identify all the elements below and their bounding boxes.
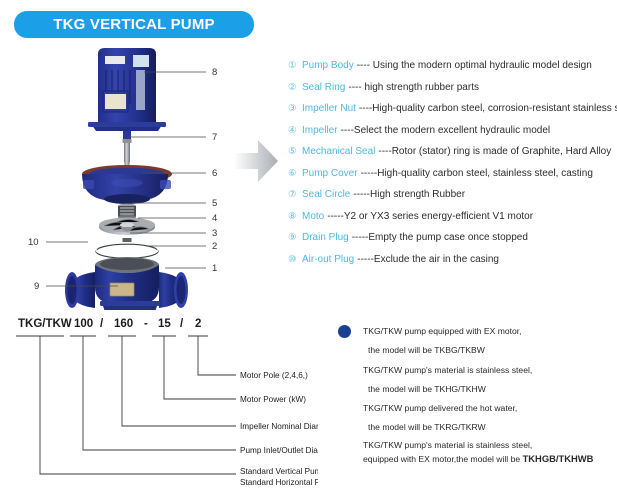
part-pump-cover [82, 165, 172, 204]
code-token-impeller: 160 [114, 318, 133, 330]
callout-8: 8 [212, 67, 217, 78]
code-token-pole: 2 [195, 318, 201, 330]
list-item: ② Seal Ring ---- high strength rubber pa… [288, 82, 614, 104]
part-name: Pump Cover [302, 168, 358, 179]
part-name: Mechanical Seal [302, 146, 375, 157]
list-item: ④ Impeller ----Select the modern excelle… [288, 125, 614, 147]
part-description: -----Exclude the air in the casing [357, 254, 499, 265]
product-spec-sheet: TKG VERTICAL PUMP [0, 0, 617, 500]
part-name: Drain Plug [302, 232, 349, 243]
model-code-nomenclature: TKG/TKW 100 / 160 - 15 / 2 [8, 308, 318, 498]
part-index: ⑦ [288, 189, 302, 200]
page-title: TKG VERTICAL PUMP [53, 16, 214, 33]
part-index: ④ [288, 125, 302, 136]
nomen-label-inlet-dia: Pump Inlet/Outlet Diameter (mm) [240, 446, 318, 455]
part-description: ----Rotor (stator) ring is made of Graph… [378, 146, 611, 157]
code-token-inlet: 100 [74, 318, 93, 330]
part-seal-ring [96, 243, 158, 258]
part-index: ⑨ [288, 232, 302, 243]
nomen-label-motor-pole: Motor Pole (2,4,6,) [240, 371, 308, 380]
nomen-label-motor-power: Motor Power (kW) [240, 395, 306, 404]
list-item: ⑥ Pump Cover -----High-quality carbon st… [288, 168, 614, 190]
part-name: Impeller [302, 125, 338, 136]
part-description: -----Empty the pump case once stopped [352, 232, 528, 243]
part-description: ---- high strength rubber parts [348, 82, 479, 93]
callout-numbers-right: 8 7 6 5 4 3 2 1 [212, 67, 217, 274]
part-name: Moto [302, 211, 324, 222]
model-variant-notes: TKG/TKW pump equipped with EX motor, the… [338, 322, 613, 466]
part-description: -----High strength Rubber [353, 189, 465, 200]
callout-6: 6 [212, 168, 217, 179]
list-item: ③ Impeller Nut ----High-quality carbon s… [288, 103, 614, 125]
callout-1: 1 [212, 263, 217, 274]
part-impeller-nut [123, 238, 132, 242]
part-name: Air-out Plug [302, 254, 354, 265]
note-final-prefix: equipped with EX motor,the model will be [363, 454, 523, 464]
part-index: ⑤ [288, 146, 302, 157]
callout-5: 5 [212, 198, 217, 209]
list-item: ⑤ Mechanical Seal ----Rotor (stator) rin… [288, 146, 614, 168]
part-mechanical-seal [118, 204, 136, 220]
callout-numbers-left: 10 9 [28, 237, 39, 292]
part-impeller [99, 218, 155, 236]
note-line: TKG/TKW pump delivered the hot water, [338, 399, 613, 418]
flow-arrow [232, 138, 280, 184]
nomen-label-impeller-dia: Impeller Nominal Diameter (mm) [240, 422, 318, 431]
code-token-series: TKG/TKW [18, 318, 72, 330]
note-line: TKG/TKW pump's material is stainless ste… [338, 361, 613, 380]
part-name: Seal Ring [302, 82, 345, 93]
part-description: ----High-quality carbon steel, corrosion… [359, 103, 617, 114]
note-final-model: TKHGB/TKHWB [523, 453, 594, 464]
callout-2: 2 [212, 241, 217, 252]
list-item: ⑦ Seal Circle -----High strength Rubber [288, 189, 614, 211]
parts-legend-list: ① Pump Body ---- Using the modern optima… [288, 60, 614, 275]
part-description: -----Y2 or YX3 series energy-efficient V… [327, 211, 533, 222]
list-item: ⑩ Air-out Plug -----Exclude the air in t… [288, 254, 614, 276]
part-motor [88, 48, 166, 131]
part-description: ----Select the modern excellent hydrauli… [341, 125, 551, 136]
code-token-sep3: / [180, 318, 184, 330]
code-token-sep2: - [144, 318, 148, 330]
exploded-pump-diagram: 8 7 6 5 4 3 2 1 10 9 [20, 40, 260, 310]
bullet-dot-icon [338, 325, 351, 338]
note-line: TKG/TKW pump equipped with EX motor, [338, 322, 613, 341]
part-index: ③ [288, 103, 302, 114]
list-item: ⑧ Moto -----Y2 or YX3 series energy-effi… [288, 211, 614, 233]
part-name: Pump Body [302, 60, 354, 71]
part-index: ⑥ [288, 168, 302, 179]
callout-9: 9 [34, 281, 39, 292]
part-name: Seal Circle [302, 189, 350, 200]
part-description: -----High-quality carbon steel, stainles… [361, 168, 593, 179]
part-index: ① [288, 60, 302, 71]
callout-10: 10 [28, 237, 39, 248]
nomen-label-std-horizontal: Standard Horizontal Pump [240, 478, 318, 487]
note-line: the model will be TKBG/TKBW [338, 341, 613, 360]
part-index: ② [288, 82, 302, 93]
note-line: the model will be TKRG/TKRW [338, 418, 613, 437]
note-line: the model will be TKHG/TKHW [338, 380, 613, 399]
note-line-final: equipped with EX motor,the model will be… [338, 452, 613, 466]
note-line: TKG/TKW pump's material is stainless ste… [338, 438, 613, 452]
part-name: Impeller Nut [302, 103, 356, 114]
part-index: ⑩ [288, 254, 302, 265]
part-description: ---- Using the modern optimal hydraulic … [357, 60, 592, 71]
list-item: ① Pump Body ---- Using the modern optima… [288, 60, 614, 82]
page-title-banner: TKG VERTICAL PUMP [14, 11, 254, 38]
part-index: ⑧ [288, 211, 302, 222]
nomen-label-std-vertical: Standard Vertical Pump/ [240, 467, 318, 476]
list-item: ⑨ Drain Plug -----Empty the pump case on… [288, 232, 614, 254]
callout-3: 3 [212, 228, 217, 239]
code-token-sep1: / [100, 318, 104, 330]
part-pump-body [65, 257, 188, 310]
callout-4: 4 [212, 213, 217, 224]
code-token-power: 15 [158, 318, 171, 330]
callout-7: 7 [212, 132, 217, 143]
